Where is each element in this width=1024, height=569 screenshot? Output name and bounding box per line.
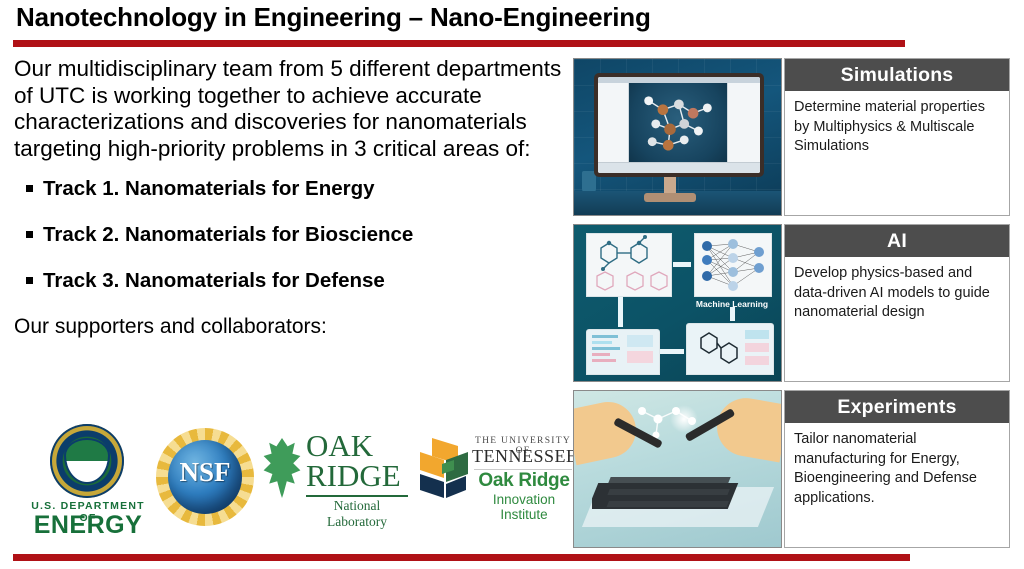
neural-network-icon: [695, 234, 771, 296]
experiments-image: [573, 390, 782, 548]
ornl-ridge-text: RIDGE: [306, 460, 401, 491]
doe-logo: U.S. DEPARTMENT OF ENERGY: [22, 422, 154, 534]
molecule-viewport: [629, 83, 727, 163]
track-label: Track 2. Nanomaterials for Bioscience: [43, 223, 413, 246]
track-label: Track 1. Nanomaterials for Energy: [43, 177, 375, 200]
list-item: Track 1. Nanomaterials for Energy: [14, 176, 566, 202]
card-body-experiments: Tailor nanomaterial manufacturing for En…: [785, 423, 1009, 508]
arrow-down-icon: [730, 307, 735, 321]
arrow-down-icon: [618, 297, 623, 327]
molecule-icon: [629, 83, 727, 163]
card-header-simulations: Simulations: [785, 59, 1009, 91]
list-item: Track 3. Nanomaterials for Defense: [14, 268, 566, 294]
supporter-logo-row: U.S. DEPARTMENT OF ENERGY NSF OAK RIDGE …: [14, 422, 574, 540]
laptop-screen-content: [687, 324, 773, 374]
intro-paragraph: Our multidisciplinary team from 5 differ…: [14, 56, 562, 162]
orii-oakridge-text: Oak Ridge: [472, 470, 576, 492]
ai-image: Machine Learning: [573, 224, 782, 382]
ornl-oak-text: OAK: [306, 430, 373, 461]
arrow-right-icon: [660, 349, 684, 354]
app-statusbar: [598, 162, 760, 173]
simulations-card: Simulations Determine material propertie…: [784, 58, 1010, 216]
bottom-divider: [13, 554, 910, 561]
card-header-ai: AI: [785, 225, 1009, 257]
ai-card: AI Develop physics-based and data-driven…: [784, 224, 1010, 382]
molecular-structures-panel: [586, 233, 672, 297]
track-list: Track 1. Nanomaterials for Energy Track …: [14, 176, 566, 294]
ornl-national-laboratory-text: National Laboratory: [306, 498, 408, 530]
orii-hexagon-mark-icon: [410, 436, 472, 500]
arrow-right-icon: [673, 262, 691, 267]
monitor-screen: [598, 77, 760, 173]
experiments-card: Experiments Tailor nanomaterial manufact…: [784, 390, 1010, 548]
square-bullet-icon: [26, 231, 33, 238]
square-bullet-icon: [26, 185, 33, 192]
app-right-panel: [727, 83, 760, 163]
nsf-logo: NSF: [150, 422, 260, 534]
nsf-acronym-text: NSF: [168, 458, 242, 486]
laptop-data-icon: [586, 329, 660, 375]
card-body-ai: Develop physics-based and data-driven AI…: [785, 257, 1009, 323]
card-header-experiments: Experiments: [785, 391, 1009, 423]
laptop-result-icon: [686, 323, 774, 375]
ornl-logo: OAK RIDGE National Laboratory: [262, 422, 408, 534]
left-content-column: Our multidisciplinary team from 5 differ…: [14, 56, 566, 339]
nanostructure-array-icon: [592, 449, 768, 531]
list-item: Track 2. Nanomaterials for Bioscience: [14, 222, 566, 248]
orii-tennessee-text: TENNESSEE: [472, 446, 574, 467]
app-left-panel: [598, 83, 629, 163]
orii-institute-text: Innovation Institute: [472, 492, 576, 522]
neural-network-panel: [694, 233, 772, 297]
card-body-simulations: Determine material properties by Multiph…: [785, 91, 1009, 157]
title-divider: [13, 40, 905, 47]
orii-logo: THE UNIVERSITY OF TENNESSEE Oak Ridge In…: [410, 422, 574, 534]
ornl-rule: [306, 495, 408, 497]
supporters-label: Our supporters and collaborators:: [14, 314, 566, 339]
molecule-diagram-icon: [587, 234, 671, 296]
oak-leaf-icon: [262, 438, 302, 498]
doe-seal-icon: [50, 424, 124, 498]
laptop-screen-content: [587, 330, 659, 374]
doe-energy-text: ENERGY: [22, 511, 154, 540]
page-title: Nanotechnology in Engineering – Nano-Eng…: [16, 2, 916, 33]
monitor-base: [644, 193, 696, 202]
track-label: Track 3. Nanomaterials for Defense: [43, 269, 385, 292]
square-bullet-icon: [26, 277, 33, 284]
simulations-image: [573, 58, 782, 216]
computer-monitor-icon: [594, 73, 764, 177]
